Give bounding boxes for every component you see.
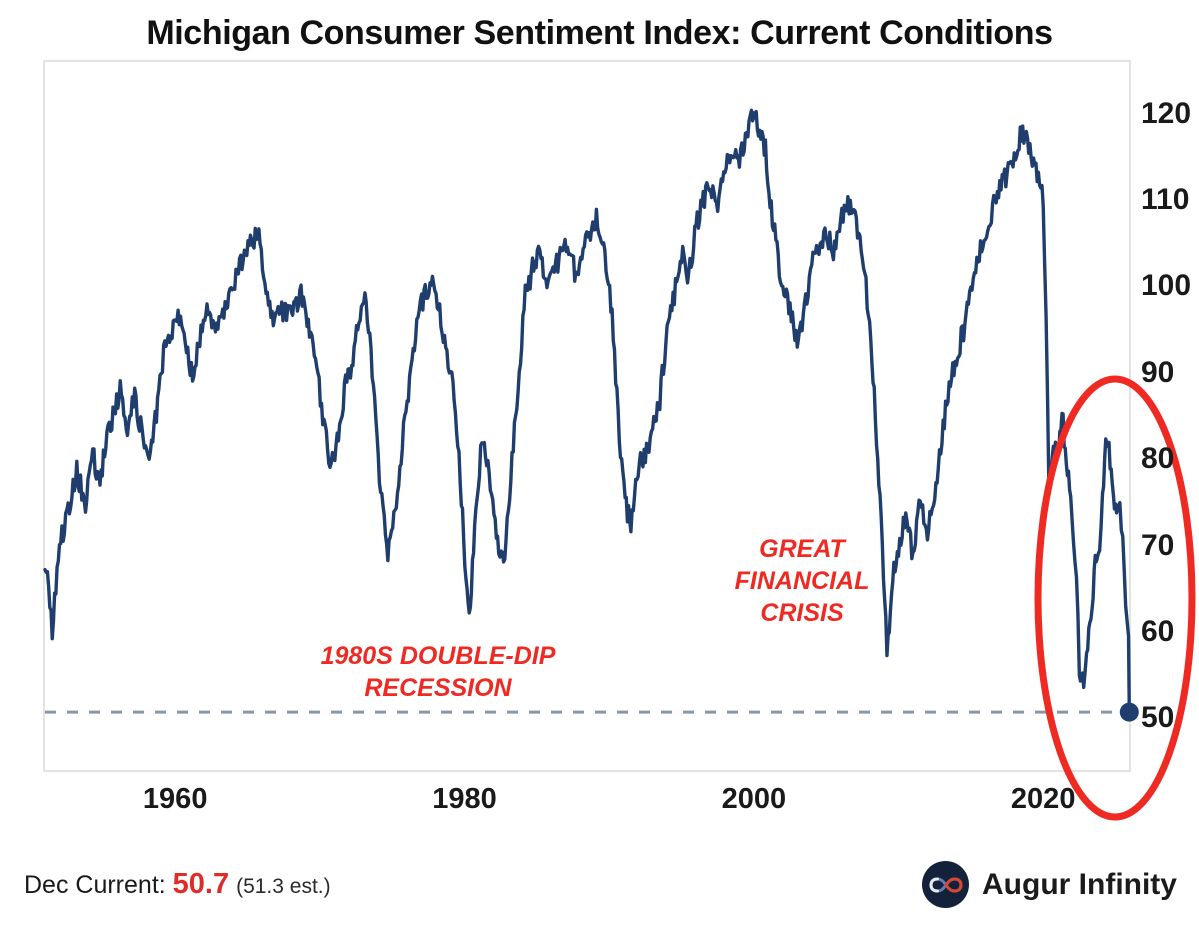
y-axis-tick-90: 90 [1141, 356, 1174, 390]
infinity-glyph [929, 875, 963, 895]
x-axis-tick-1960: 1960 [143, 783, 208, 816]
chart-container: Michigan Consumer Sentiment Index: Curre… [0, 0, 1199, 936]
x-axis-tick-2020: 2020 [1011, 783, 1076, 816]
annotation-great-financial-crisis: GREAT FINANCIAL CRISIS [707, 533, 897, 629]
y-axis-tick-80: 80 [1141, 442, 1174, 476]
footer-label: Dec Current: [24, 871, 166, 899]
brand-logo: Augur Infinity [922, 861, 1177, 908]
annotation-1980s-double-dip-recession: 1980S DOUBLE-DIP RECESSION [288, 640, 588, 704]
series-line-current-conditions [45, 110, 1129, 712]
y-axis-tick-100: 100 [1141, 269, 1191, 303]
infinity-icon [922, 861, 969, 908]
y-axis-tick-60: 60 [1141, 615, 1174, 649]
x-axis-tick-2000: 2000 [722, 783, 787, 816]
y-axis-tick-120: 120 [1141, 97, 1191, 131]
brand-name: Augur Infinity [982, 868, 1177, 902]
footer-estimate: (51.3 est.) [236, 875, 331, 898]
series-line-group [45, 110, 1129, 712]
latest-value-marker [1120, 703, 1139, 722]
x-axis-tick-1980: 1980 [432, 783, 497, 816]
y-axis-tick-110: 110 [1141, 183, 1189, 217]
y-axis-tick-70: 70 [1141, 529, 1174, 563]
footer-value: 50.7 [173, 868, 229, 900]
footer-current-reading: Dec Current: 50.7 (51.3 est.) [24, 868, 331, 901]
y-axis-tick-50: 50 [1141, 701, 1174, 735]
